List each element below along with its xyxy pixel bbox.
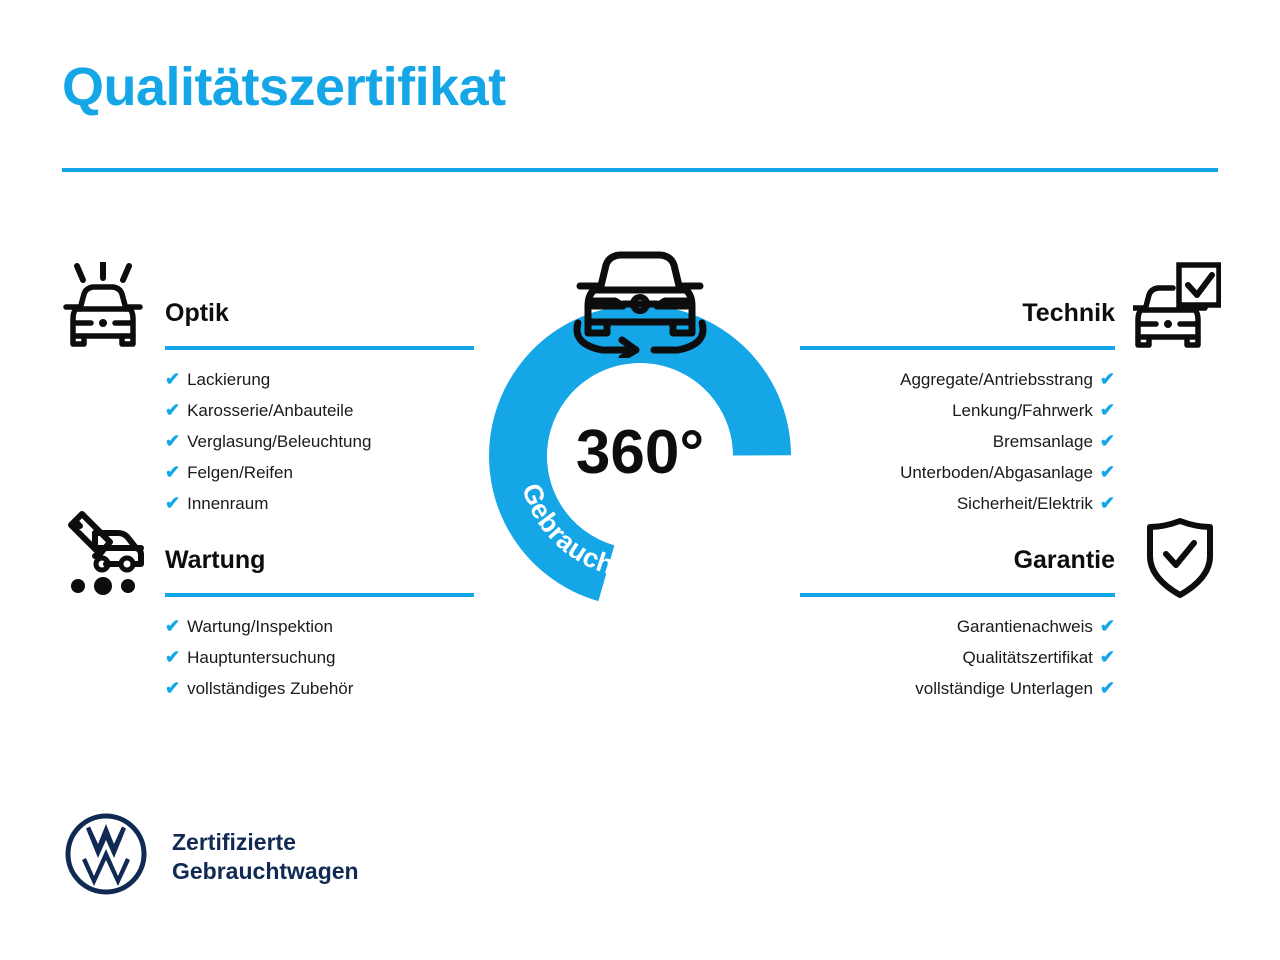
list-item-label: Karosserie/Anbauteile [187,396,353,426]
check-icon: ✔ [165,426,180,456]
section-divider-optik [165,346,474,350]
checklist-wartung: ✔Wartung/Inspektion ✔Hauptuntersuchung ✔… [165,611,474,704]
section-optik: Optik ✔Lackierung ✔Karosserie/Anbauteile… [165,298,474,519]
check-icon: ✔ [1100,426,1115,456]
list-item: Aggregate/Antriebsstrang✔ [800,364,1115,395]
list-item: ✔Karosserie/Anbauteile [165,395,474,426]
footer-logo-text: Zertifizierte Gebrauchtwagen [172,828,359,886]
list-item-label: Unterboden/Abgasanlage [900,458,1093,488]
check-icon: ✔ [1100,457,1115,487]
list-item-label: Aggregate/Antriebsstrang [900,365,1093,395]
list-item-label: Sicherheit/Elektrik [957,489,1093,519]
list-item-label: vollständiges Zubehör [187,674,353,704]
list-item-label: Felgen/Reifen [187,458,293,488]
check-icon: ✔ [1100,673,1115,703]
check-icon: ✔ [1100,488,1115,518]
list-item-label: Hauptuntersuchung [187,643,335,673]
check-icon: ✔ [1100,364,1115,394]
car-checkbox-icon [1133,262,1221,359]
list-item: ✔Innenraum [165,488,474,519]
checklist-garantie: Garantienachweis✔ Qualitätszertifikat✔ v… [800,611,1115,704]
section-divider-wartung [165,593,474,597]
section-divider-technik [800,346,1115,350]
check-icon: ✔ [165,488,180,518]
list-item: Unterboden/Abgasanlage✔ [800,457,1115,488]
check-icon: ✔ [1100,395,1115,425]
section-title-optik: Optik [165,298,474,328]
section-title-garantie: Garantie [800,545,1115,575]
list-item: Sicherheit/Elektrik✔ [800,488,1115,519]
section-divider-garantie [800,593,1115,597]
list-item-label: Wartung/Inspektion [187,612,333,642]
check-icon: ✔ [165,642,180,672]
section-title-technik: Technik [800,298,1115,328]
check-icon: ✔ [165,364,180,394]
checklist-technik: Aggregate/Antriebsstrang✔ Lenkung/Fahrwe… [800,364,1115,519]
list-item-label: Innenraum [187,489,268,519]
list-item-label: Lackierung [187,365,270,395]
list-item-label: Garantienachweis [957,612,1093,642]
list-item-label: vollständige Unterlagen [915,674,1093,704]
shield-check-icon [1146,518,1214,603]
list-item: ✔Verglasung/Beleuchtung [165,426,474,457]
list-item: Lenkung/Fahrwerk✔ [800,395,1115,426]
footer-logo: Zertifizierte Gebrauchtwagen [64,812,359,901]
checklist-optik: ✔Lackierung ✔Karosserie/Anbauteile ✔Verg… [165,364,474,519]
list-item-label: Lenkung/Fahrwerk [952,396,1093,426]
check-icon: ✔ [1100,642,1115,672]
car-shine-icon [62,262,144,359]
list-item-label: Bremsanlage [993,427,1093,457]
list-item-label: Qualitätszertifikat [963,643,1093,673]
list-item: Garantienachweis✔ [800,611,1115,642]
car-front-rotate-icon [560,248,720,363]
list-item: Bremsanlage✔ [800,426,1115,457]
list-item: Qualitätszertifikat✔ [800,642,1115,673]
check-icon: ✔ [165,611,180,641]
check-icon: ✔ [1100,611,1115,641]
list-item: ✔Hauptuntersuchung [165,642,474,673]
section-title-wartung: Wartung [165,545,474,575]
section-garantie: Garantie Garantienachweis✔ Qualitätszert… [800,545,1115,704]
gebrauchtwagen-check-badge: 360° Gebrauchtwagen-Check [456,248,824,630]
list-item: vollständige Unterlagen✔ [800,673,1115,704]
check-icon: ✔ [165,457,180,487]
check-icon: ✔ [165,395,180,425]
header-divider [62,168,1218,172]
vw-logo [64,812,148,901]
page-title: Qualitätszertifikat [62,58,506,117]
list-item-label: Verglasung/Beleuchtung [187,427,371,457]
badge-center-label: 360° [576,418,704,487]
list-item: ✔vollständiges Zubehör [165,673,474,704]
list-item: ✔Felgen/Reifen [165,457,474,488]
list-item: ✔Lackierung [165,364,474,395]
section-wartung: Wartung ✔Wartung/Inspektion ✔Hauptunters… [165,545,474,704]
car-lift-service-icon [62,508,148,605]
list-item: ✔Wartung/Inspektion [165,611,474,642]
check-icon: ✔ [165,673,180,703]
section-technik: Technik Aggregate/Antriebsstrang✔ Lenkun… [800,298,1115,519]
